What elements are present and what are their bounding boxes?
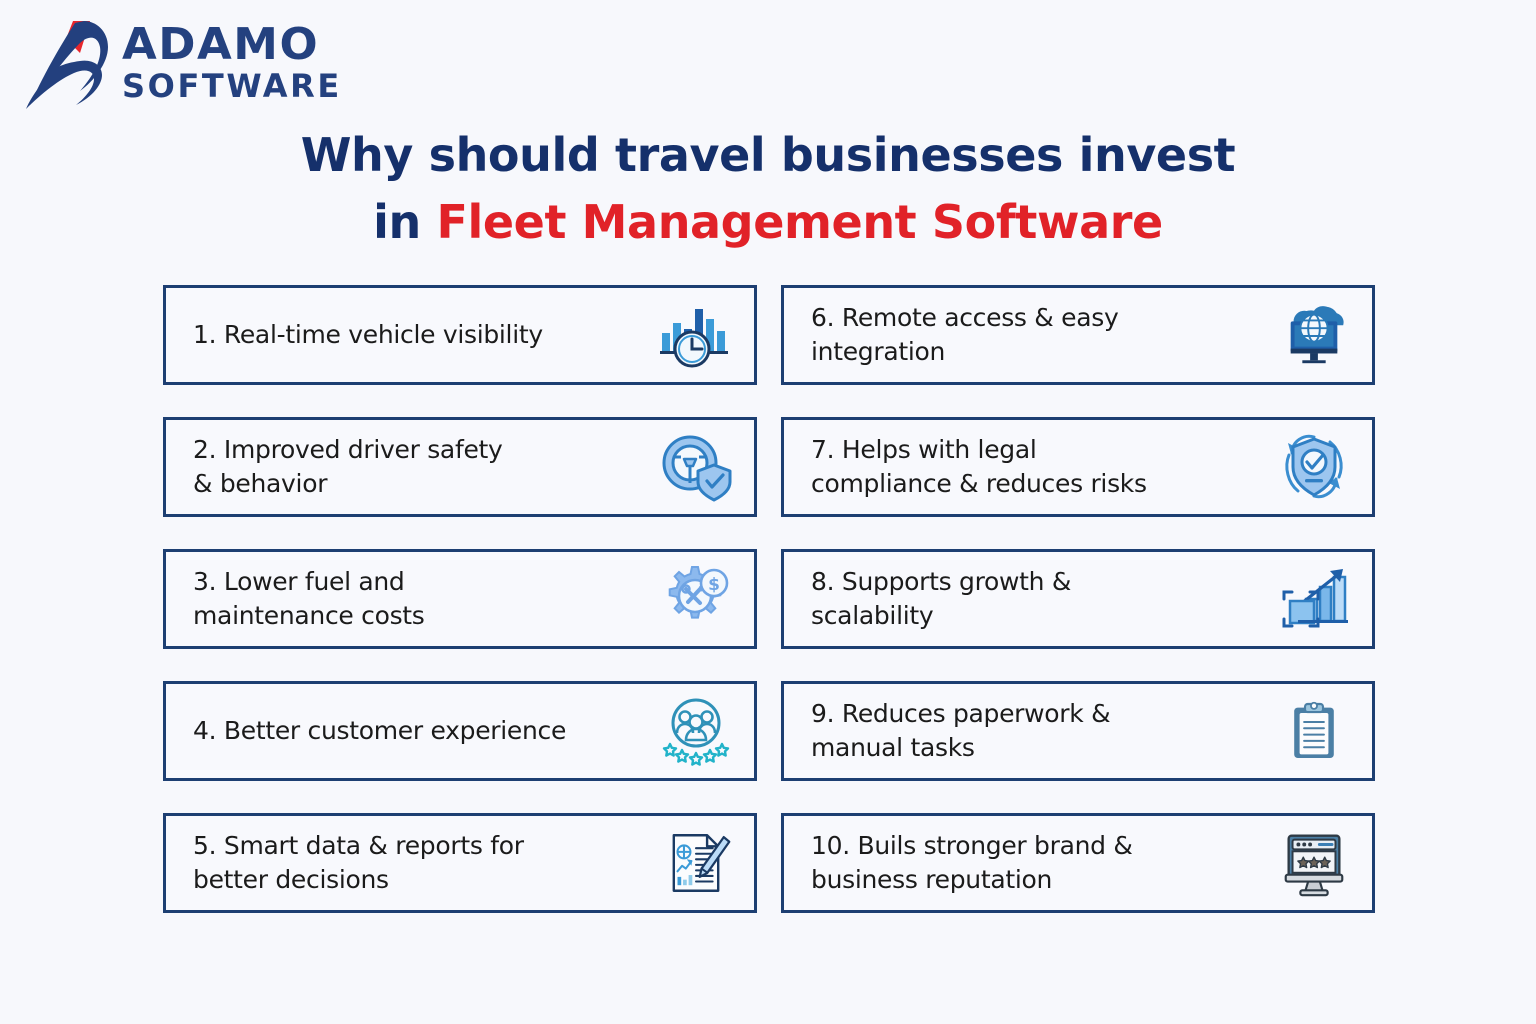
gear-tools-dollar-icon: $: [652, 557, 740, 641]
benefit-card-3-label: 3. Lower fuel and maintenance costs: [193, 565, 652, 634]
people-stars-rating-icon: [652, 689, 740, 773]
benefit-card-7[interactable]: 7. Helps with legal compliance & reduces…: [781, 417, 1375, 517]
svg-text:$: $: [708, 575, 720, 595]
page-title-line-1: Why should travel businesses invest: [0, 122, 1536, 189]
report-pencil-icon: [652, 821, 740, 905]
benefit-card-6[interactable]: 6. Remote access & easy integration: [781, 285, 1375, 385]
benefit-card-8-label: 8. Supports growth & scalability: [811, 565, 1270, 634]
cloud-monitor-globe-icon: [1270, 293, 1358, 377]
bar-chart-clock-icon: [652, 293, 740, 377]
benefit-card-3[interactable]: 3. Lower fuel and maintenance costs $: [163, 549, 757, 649]
benefit-card-8[interactable]: 8. Supports growth & scalability: [781, 549, 1375, 649]
brand-logo: ADAMO SOFTWARE: [18, 10, 378, 115]
benefit-card-2[interactable]: 2. Improved driver safety & behavior: [163, 417, 757, 517]
page-title-highlight: Fleet Management Software: [436, 195, 1162, 249]
benefit-card-6-label: 6. Remote access & easy integration: [811, 301, 1270, 370]
logo-wordmark-primary: ADAMO: [122, 24, 346, 66]
benefit-card-7-label: 7. Helps with legal compliance & reduces…: [811, 433, 1270, 502]
page-title-prefix: in: [373, 195, 436, 249]
page-title-line-2: in Fleet Management Software: [0, 189, 1536, 256]
benefit-card-4-label: 4. Better customer experience: [193, 714, 652, 749]
benefit-card-4[interactable]: 4. Better customer experience: [163, 681, 757, 781]
monitor-star-review-icon: [1270, 821, 1358, 905]
benefit-card-10-label: 10. Buils stronger brand & business repu…: [811, 829, 1270, 898]
benefits-grid: 1. Real-time vehicle visibility 6. Remot…: [163, 285, 1375, 913]
benefit-card-5[interactable]: 5. Smart data & reports for better decis…: [163, 813, 757, 913]
benefit-card-1[interactable]: 1. Real-time vehicle visibility: [163, 285, 757, 385]
clipboard-document-icon: [1270, 689, 1358, 773]
logo-wordmark-secondary: SOFTWARE: [122, 71, 342, 101]
page-title: Why should travel businesses invest in F…: [0, 122, 1536, 255]
adamo-swoosh-logo-icon: [18, 13, 114, 113]
steering-wheel-shield-icon: [652, 425, 740, 509]
benefit-card-5-label: 5. Smart data & reports for better decis…: [193, 829, 652, 898]
benefit-card-9[interactable]: 9. Reduces paperwork & manual tasks: [781, 681, 1375, 781]
growth-bar-arrow-icon: [1270, 557, 1358, 641]
benefit-card-2-label: 2. Improved driver safety & behavior: [193, 433, 652, 502]
benefit-card-9-label: 9. Reduces paperwork & manual tasks: [811, 697, 1270, 766]
benefit-card-10[interactable]: 10. Buils stronger brand & business repu…: [781, 813, 1375, 913]
benefit-card-1-label: 1. Real-time vehicle visibility: [193, 318, 652, 353]
shield-check-refresh-icon: [1270, 425, 1358, 509]
